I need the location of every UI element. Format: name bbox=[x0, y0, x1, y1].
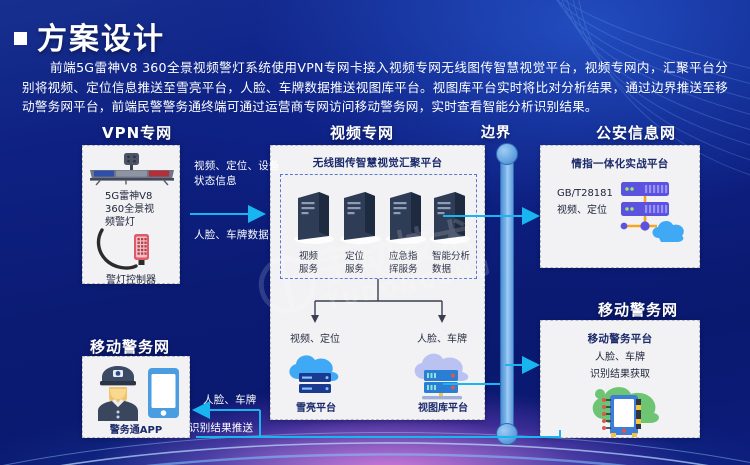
vpn-device-name: 5G雷神V8 360全景视 频警灯 bbox=[105, 190, 154, 229]
panel-mobile-app: 警务通APP bbox=[82, 356, 190, 438]
page-title-row: 方案设计 bbox=[14, 14, 165, 58]
section-label-police-info: 公安信息网 bbox=[596, 122, 676, 143]
controller-label: 警灯控制器 bbox=[83, 273, 179, 288]
police-info-line1: GB/T28181 bbox=[557, 186, 613, 201]
panel-video-network: 无线图传智慧视觉汇聚平台 bbox=[270, 145, 485, 420]
boundary-cap-bottom bbox=[496, 423, 518, 445]
platform-label-shituku: 视图库平台 bbox=[404, 402, 482, 416]
slide-root: 方案设计 前端5G雷神V8 360全景视频警灯系统使用VPN专网卡接入视频专网无… bbox=[0, 0, 750, 465]
boundary-bar bbox=[500, 152, 514, 436]
connector-label-vpn-to-video-bottom: 人脸、车牌数据 bbox=[194, 228, 269, 243]
server-label-analysis-data: 智能分析 数据 bbox=[432, 251, 470, 276]
boundary-pillar bbox=[496, 143, 518, 445]
police-lightbar-icon bbox=[86, 152, 178, 186]
boundary-cap-top bbox=[496, 143, 518, 165]
server-label-location-service: 定位 服务 bbox=[345, 251, 364, 276]
light-controller-icon bbox=[96, 228, 162, 276]
section-label-boundary: 边界 bbox=[481, 122, 511, 142]
police-info-line2: 视频、定位 bbox=[557, 203, 607, 218]
branch-label-video-location: 视频、定位 bbox=[279, 333, 351, 347]
mobile-police-line1: 人脸、车牌 bbox=[541, 350, 699, 365]
page-title: 方案设计 bbox=[37, 14, 165, 58]
police-officer-phone-icon bbox=[90, 363, 186, 421]
police-info-server-cloud-icon bbox=[615, 178, 691, 248]
platform-label-xueliang: 雪亮平台 bbox=[279, 402, 353, 416]
header: 方案设计 前端5G雷神V8 360全景视频警灯系统使用VPN专网卡接入视频专网无… bbox=[0, 0, 750, 112]
connector-label-to-app-top: 人脸、车牌 bbox=[203, 393, 257, 408]
mobile-police-platform-title: 移动警务平台 bbox=[541, 331, 699, 346]
police-info-platform-title: 情指一体化实战平台 bbox=[541, 156, 699, 171]
xueliang-platform-icon bbox=[284, 349, 348, 401]
server-label-video-service: 视频 服务 bbox=[299, 251, 318, 276]
panel-vpn: 5G雷神V8 360全景视 频警灯 警灯控制器 bbox=[82, 145, 180, 284]
mobile-app-label: 警务通APP bbox=[83, 423, 189, 438]
connector-label-to-app-bottom: 识别结果推送 bbox=[189, 421, 253, 436]
server-label-emergency-service: 应急指 挥服务 bbox=[389, 251, 418, 276]
intro-paragraph: 前端5G雷神V8 360全景视频警灯系统使用VPN专网卡接入视频专网无线图传智慧… bbox=[22, 58, 728, 117]
branch-label-face-plate: 人脸、车牌 bbox=[406, 333, 478, 347]
mobile-police-line2: 识别结果获取 bbox=[541, 367, 699, 382]
video-platform-title: 无线图传智慧视觉汇聚平台 bbox=[271, 155, 484, 170]
section-label-mobile-police-left: 移动警务网 bbox=[90, 336, 170, 357]
shituku-platform-icon bbox=[408, 349, 478, 401]
section-label-vpn: VPN专网 bbox=[102, 122, 172, 143]
connector-label-vpn-to-video-top: 视频、定位、设备 状态信息 bbox=[194, 159, 280, 189]
panel-police-info-network: 情指一体化实战平台 GB/T28181 视频、定位 bbox=[540, 145, 700, 268]
section-label-video: 视频专网 bbox=[330, 122, 394, 143]
panel-mobile-police-network: 移动警务平台 人脸、车牌 识别结果获取 bbox=[540, 320, 700, 438]
section-label-mobile-police-right: 移动警务网 bbox=[598, 299, 678, 320]
mobile-police-cloud-device-icon bbox=[578, 385, 668, 437]
title-bullet-square bbox=[14, 32, 27, 45]
